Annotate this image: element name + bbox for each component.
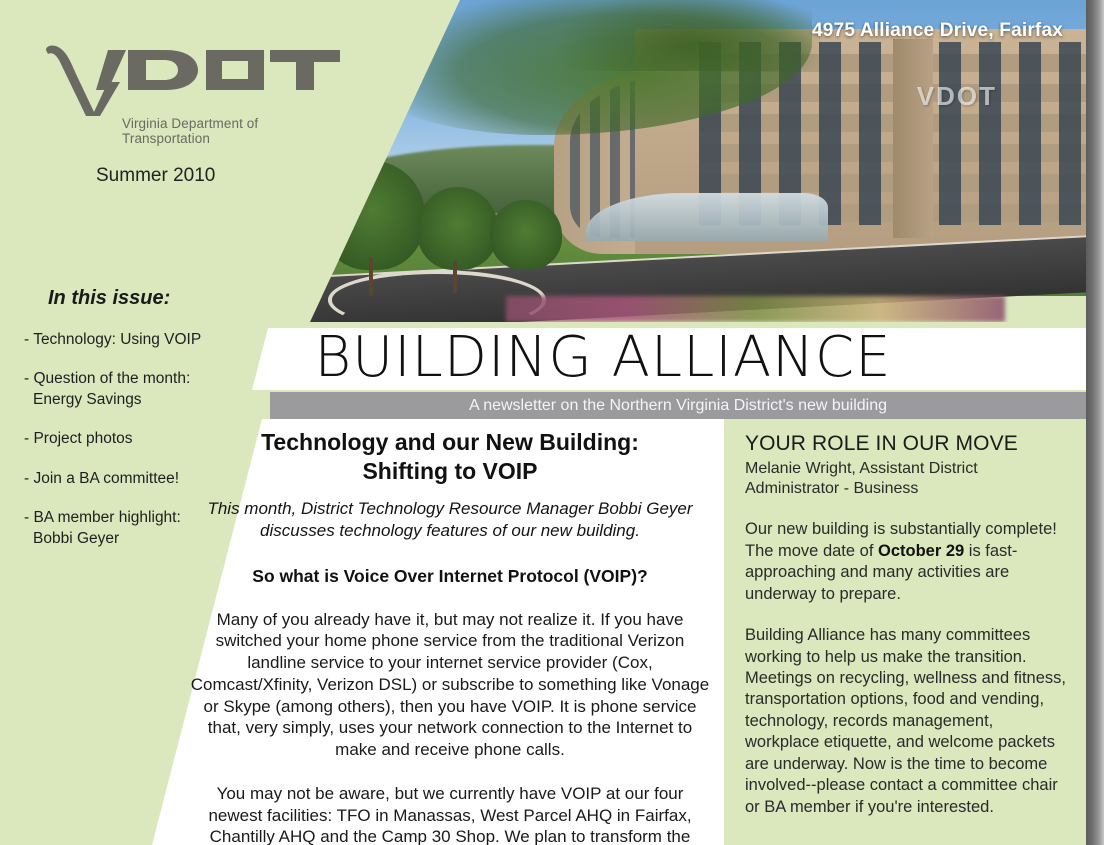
vdot-logo-mark: [42, 44, 342, 116]
vdot-logo-tagline: Virginia Department of Transportation: [122, 116, 342, 146]
sidebar-article-byline: Melanie Wright, Assistant District Admin…: [745, 459, 1070, 499]
photo-tree-trunk: [453, 261, 457, 293]
vdot-logo: Virginia Department of Transportation: [42, 44, 342, 116]
article-subhead: So what is Voice Over Internet Protocol …: [178, 566, 722, 587]
byline-line1: Melanie Wright, Assistant District: [745, 460, 978, 477]
article-title-line2: Shifting to VOIP: [362, 458, 537, 484]
photo-tree-trunk: [369, 258, 373, 297]
list-item-line1: - Join a BA committee!: [24, 470, 179, 487]
photo-brick-column: [893, 39, 933, 239]
photo-overhanging-branch: [554, 0, 828, 71]
article-paragraph-1: Many of you already have it, but may not…: [190, 609, 710, 761]
sidebar-paragraph-2: Building Alliance has many committees wo…: [745, 625, 1070, 818]
page-right-edge: [1086, 0, 1104, 845]
main-article: Technology and our New Building: Shiftin…: [178, 428, 722, 845]
sidebar-article-heading: YOUR ROLE IN OUR MOVE: [745, 432, 1070, 456]
sidebar-paragraph-1: Our new building is substantially comple…: [745, 519, 1070, 605]
photo-flowerbed: [506, 296, 1006, 322]
list-item-line1: - Project photos: [24, 430, 133, 447]
in-this-issue-heading: In this issue:: [48, 287, 170, 310]
photo-tree: [490, 200, 563, 271]
hero-building-photo: VDOT: [280, 0, 1086, 322]
photo-tree: [320, 161, 425, 270]
masthead-title: BUILDING ALLIANCE: [0, 322, 1086, 394]
move-date: October 29: [878, 542, 964, 560]
newsletter-page: VDOT 4975 Alliance Drive, Fairfax Virgin…: [0, 0, 1104, 845]
building-wall-vdot-sign: VDOT: [917, 81, 1038, 110]
byline-line2: Administrator - Business: [745, 480, 918, 497]
article-title: Technology and our New Building: Shiftin…: [178, 428, 722, 486]
issue-date: Summer 2010: [96, 165, 215, 187]
article-paragraph-2: You may not be aware, but we currently h…: [190, 783, 710, 845]
hero-address-caption: 4975 Alliance Drive, Fairfax: [812, 20, 1063, 42]
photo-entry-canopy: [586, 193, 828, 241]
masthead-subtitle: A newsletter on the Northern Virginia Di…: [270, 392, 1086, 419]
sidebar-article: YOUR ROLE IN OUR MOVE Melanie Wright, As…: [745, 432, 1070, 818]
list-item-line1: - BA member highlight:: [24, 509, 181, 526]
article-deck: This month, District Technology Resource…: [192, 498, 708, 542]
article-title-line1: Technology and our New Building:: [261, 429, 639, 455]
page-sheet: VDOT 4975 Alliance Drive, Fairfax Virgin…: [0, 0, 1086, 845]
photo-tree: [417, 187, 498, 271]
